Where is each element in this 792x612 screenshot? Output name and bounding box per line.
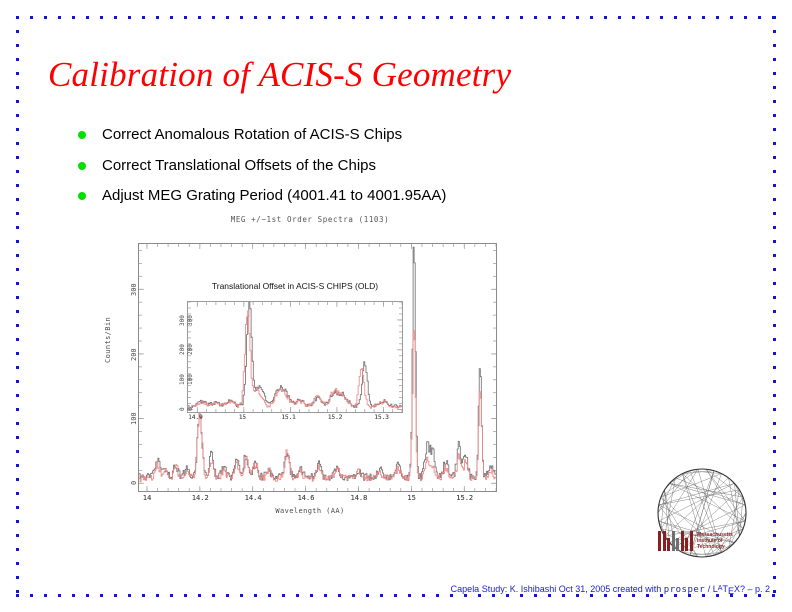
border-dot — [590, 16, 593, 19]
inset-plot-area — [187, 301, 403, 413]
border-dot — [716, 16, 719, 19]
footer-page-number: ? – p. 2 — [740, 584, 770, 594]
bullet-marker-icon — [78, 162, 86, 170]
xtick-label: 14.2 — [192, 494, 209, 502]
border-dot — [773, 366, 776, 369]
ytick-label: 200 — [187, 345, 194, 356]
footer-latex-l: L — [713, 584, 718, 594]
border-dot — [324, 16, 327, 19]
list-item-label: Adjust MEG Grating Period (4001.41 to 40… — [102, 187, 446, 205]
ytick-label: 300 — [130, 283, 138, 296]
border-dot — [16, 478, 19, 481]
border-dot — [16, 548, 19, 551]
border-dot — [16, 422, 19, 425]
mit-line-3: Technology — [697, 544, 725, 550]
border-dot — [16, 506, 19, 509]
spectrum-plus-first-order — [188, 311, 402, 409]
border-dot — [773, 156, 776, 159]
border-dot — [16, 296, 19, 299]
border-dot — [16, 394, 19, 397]
border-dot — [422, 16, 425, 19]
border-dot — [16, 436, 19, 439]
border-dot — [773, 44, 776, 47]
spectra-figure: MEG +/−1st Order Spectra (1103) Counts/B… — [110, 215, 510, 515]
border-dot — [16, 492, 19, 495]
border-dots-left — [16, 16, 19, 604]
border-dot — [773, 142, 776, 145]
inset-chart-title: Translational Offset in ACIS-S CHIPS (OL… — [159, 281, 431, 291]
border-dot — [44, 16, 47, 19]
border-dot — [366, 16, 369, 19]
border-dot — [548, 16, 551, 19]
border-dot — [773, 282, 776, 285]
xtick-label: 14.8 — [350, 494, 367, 502]
border-dot — [408, 16, 411, 19]
border-dot — [16, 100, 19, 103]
border-dot — [142, 16, 145, 19]
border-dot — [773, 436, 776, 439]
border-dot — [773, 296, 776, 299]
bullet-list: Correct Anomalous Rotation of ACIS-S Chi… — [78, 126, 638, 218]
border-dot — [773, 226, 776, 229]
border-dot — [240, 16, 243, 19]
border-dot — [646, 16, 649, 19]
border-dot — [758, 16, 761, 19]
list-item: Correct Anomalous Rotation of ACIS-S Chi… — [78, 126, 638, 144]
mit-institute-name: Massachusetts Institute of Technology — [697, 532, 733, 550]
border-dot — [310, 16, 313, 19]
list-item-label: Correct Anomalous Rotation of ACIS-S Chi… — [102, 126, 402, 144]
inset-plot: Translational Offset in ACIS-S CHIPS (OL… — [187, 301, 403, 413]
border-dot — [506, 16, 509, 19]
footer-latex-a: A — [718, 585, 723, 592]
border-dots-right — [773, 16, 776, 604]
mit-wordmark: Massachusetts Institute of Technology — [658, 531, 733, 551]
border-dot — [30, 16, 33, 19]
border-dot — [702, 16, 705, 19]
border-dot — [773, 114, 776, 117]
mit-logo: Massachusetts Institute of Technology — [636, 455, 768, 577]
border-dot — [464, 16, 467, 19]
border-dot — [773, 100, 776, 103]
border-dot — [773, 198, 776, 201]
border-dot — [114, 16, 117, 19]
border-dot — [773, 170, 776, 173]
border-dot — [660, 16, 663, 19]
border-dot — [268, 16, 271, 19]
border-dot — [773, 254, 776, 257]
border-dot — [254, 16, 257, 19]
border-dot — [773, 240, 776, 243]
border-dot — [72, 16, 75, 19]
xtick-label: 15 — [239, 414, 246, 421]
border-dot — [16, 254, 19, 257]
spectrum-minus-first-order — [188, 302, 402, 408]
border-dot — [773, 464, 776, 467]
border-dot — [773, 380, 776, 383]
border-dot — [170, 16, 173, 19]
border-dot — [16, 324, 19, 327]
border-dot — [773, 408, 776, 411]
xtick-label: 15.2 — [328, 414, 342, 421]
border-dot — [16, 408, 19, 411]
border-dot — [618, 16, 621, 19]
border-dot — [226, 16, 229, 19]
bullet-marker-icon — [78, 131, 86, 139]
border-dot — [450, 16, 453, 19]
footer-package[interactable]: prosper — [664, 585, 705, 595]
inset-plot-svg — [188, 302, 402, 412]
bullet-marker-icon — [78, 192, 86, 200]
border-dot — [773, 184, 776, 187]
border-dot — [773, 394, 776, 397]
border-dot — [282, 16, 285, 19]
xtick-label: 15 — [407, 494, 415, 502]
border-dot — [16, 142, 19, 145]
slide-canvas: Calibration of ACIS-S Geometry Correct A… — [0, 0, 792, 612]
border-dot — [773, 212, 776, 215]
border-dot — [16, 520, 19, 523]
border-dot — [16, 534, 19, 537]
border-dot — [576, 16, 579, 19]
border-dot — [674, 16, 677, 19]
border-dot — [773, 338, 776, 341]
border-dot — [16, 44, 19, 47]
border-dot — [492, 16, 495, 19]
border-dot — [198, 16, 201, 19]
border-dot — [16, 450, 19, 453]
border-dot — [773, 492, 776, 495]
border-dot — [16, 86, 19, 89]
border-dot — [478, 16, 481, 19]
border-dot — [773, 534, 776, 537]
border-dot — [16, 282, 19, 285]
border-dot — [16, 184, 19, 187]
ytick-label: 0 — [130, 481, 138, 485]
border-dot — [128, 16, 131, 19]
border-dot — [773, 506, 776, 509]
border-dot — [394, 16, 397, 19]
list-item-label: Correct Translational Offsets of the Chi… — [102, 157, 376, 175]
border-dot — [16, 16, 19, 19]
border-dot — [16, 338, 19, 341]
border-dot — [16, 114, 19, 117]
border-dot — [773, 30, 776, 33]
page-title: Calibration of ACIS-S Geometry — [48, 55, 511, 95]
ytick-label: 300 — [179, 315, 186, 326]
border-dot — [16, 562, 19, 565]
border-dot — [16, 380, 19, 383]
border-dot — [534, 16, 537, 19]
ytick-label: 100 — [179, 374, 186, 385]
xtick-label: 15.1 — [281, 414, 295, 421]
border-dot — [16, 170, 19, 173]
border-dots-top — [16, 16, 786, 19]
border-dot — [773, 478, 776, 481]
ytick-label: 300 — [187, 315, 194, 326]
border-dot — [520, 16, 523, 19]
border-dot — [58, 16, 61, 19]
list-item: Adjust MEG Grating Period (4001.41 to 40… — [78, 187, 638, 205]
main-plot-area: Translational Offset in ACIS-S CHIPS (OL… — [138, 243, 497, 492]
border-dot — [16, 156, 19, 159]
border-dot — [773, 562, 776, 565]
border-dot — [16, 212, 19, 215]
xtick-label: 14 — [143, 494, 151, 502]
border-dot — [16, 128, 19, 131]
border-dot — [16, 226, 19, 229]
mit-bars-icon — [658, 531, 694, 551]
border-dot — [773, 590, 776, 593]
footer: Capela Study: K. Ishibashi Oct 31, 2005 … — [0, 584, 770, 595]
footer-separator: / — [705, 584, 713, 594]
border-dot — [773, 576, 776, 579]
border-dot — [212, 16, 215, 19]
border-dot — [773, 16, 776, 19]
border-dot — [773, 86, 776, 89]
border-dot — [773, 268, 776, 271]
chart-title: MEG +/−1st Order Spectra (1103) — [110, 215, 510, 224]
border-dot — [773, 548, 776, 551]
border-dot — [16, 58, 19, 61]
border-dot — [100, 16, 103, 19]
border-dot — [773, 450, 776, 453]
border-dot — [632, 16, 635, 19]
border-dot — [16, 464, 19, 467]
border-dot — [773, 352, 776, 355]
border-dot — [773, 128, 776, 131]
xtick-label: 15.3 — [374, 414, 388, 421]
border-dot — [184, 16, 187, 19]
border-dot — [730, 16, 733, 19]
ytick-label: 200 — [179, 345, 186, 356]
border-dot — [296, 16, 299, 19]
xtick-label: 14.9 — [188, 414, 202, 421]
border-dot — [16, 240, 19, 243]
border-dot — [16, 576, 19, 579]
ytick-label: 200 — [130, 348, 138, 361]
border-dot — [16, 366, 19, 369]
border-dot — [16, 352, 19, 355]
border-dot — [86, 16, 89, 19]
chart-ylabel: Counts/Bin — [104, 317, 112, 363]
ytick-label: 0 — [179, 407, 186, 411]
border-dot — [773, 310, 776, 313]
border-dot — [744, 16, 747, 19]
border-dot — [16, 72, 19, 75]
border-dot — [688, 16, 691, 19]
string-art-circle-icon — [636, 455, 768, 577]
xtick-label: 14.6 — [298, 494, 315, 502]
border-dot — [562, 16, 565, 19]
list-item: Correct Translational Offsets of the Chi… — [78, 157, 638, 175]
footer-credit: Capela Study: K. Ishibashi Oct 31, 2005 … — [451, 584, 664, 594]
border-dot — [338, 16, 341, 19]
border-dot — [380, 16, 383, 19]
border-dot — [436, 16, 439, 19]
border-dot — [156, 16, 159, 19]
ytick-label: 0 — [187, 407, 194, 411]
border-dot — [773, 58, 776, 61]
xtick-label: 15.2 — [456, 494, 473, 502]
ytick-label: 100 — [187, 374, 194, 385]
border-dot — [16, 198, 19, 201]
ytick-label: 100 — [130, 413, 138, 426]
border-dot — [773, 72, 776, 75]
border-dot — [773, 520, 776, 523]
border-dot — [604, 16, 607, 19]
border-dot — [16, 30, 19, 33]
chart-xlabel: Wavelength (AA) — [110, 507, 510, 515]
xtick-label: 14.4 — [245, 494, 262, 502]
footer-latex-e: E — [728, 586, 734, 596]
border-dot — [352, 16, 355, 19]
border-dot — [773, 422, 776, 425]
border-dot — [16, 268, 19, 271]
border-dot — [16, 310, 19, 313]
border-dot — [773, 324, 776, 327]
